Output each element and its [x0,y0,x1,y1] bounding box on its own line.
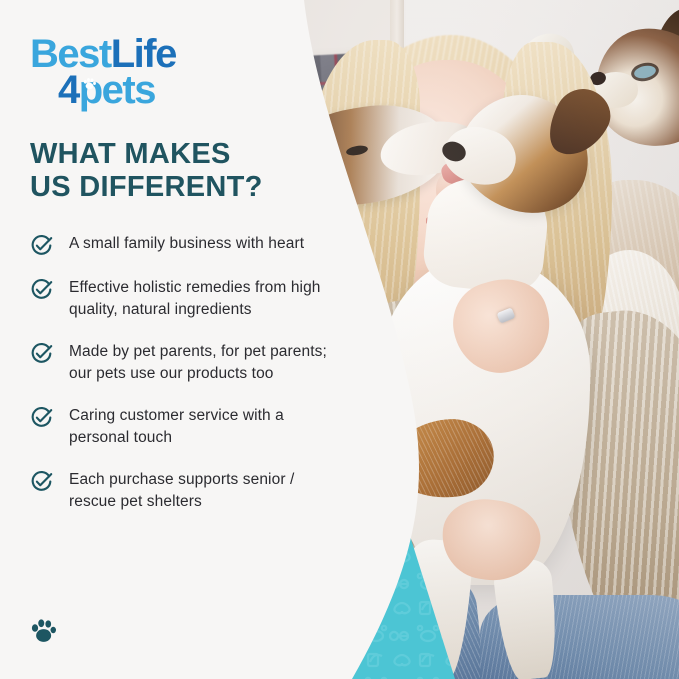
check-circle-icon [30,406,53,429]
list-item: Effective holistic remedies from high qu… [30,277,330,321]
paw-print-icon [82,76,97,91]
list-item-label: A small family business with heart [69,233,304,255]
list-item: A small family business with heart [30,233,330,257]
list-item-label: Each purchase supports senior / rescue p… [69,469,294,513]
list-item: Each purchase supports senior / rescue p… [30,469,330,513]
logo-line-2: 4pets [58,70,210,110]
list-item-label: Effective holistic remedies from high qu… [69,277,321,321]
benefits-list: A small family business with heart Effec… [30,233,330,513]
list-item-label: Made by pet parents, for pet parents; ou… [69,341,327,385]
brand-logo[interactable]: BestLife 4pets [30,34,210,112]
page-title: What Makes Us Different? [30,138,330,205]
check-circle-icon [30,278,53,301]
promo-card: BestLife 4pets What Makes Us Different? [0,0,679,679]
list-item: Caring customer service with a personal … [30,405,330,449]
list-item-label: Caring customer service with a personal … [69,405,284,449]
paw-print-icon [28,615,58,645]
content-column: BestLife 4pets What Makes Us Different? [0,0,330,679]
logo-text-4: 4 [58,68,79,112]
check-circle-icon [30,342,53,365]
list-item: Made by pet parents, for pet parents; ou… [30,341,330,385]
check-circle-icon [30,234,53,257]
check-circle-icon [30,470,53,493]
